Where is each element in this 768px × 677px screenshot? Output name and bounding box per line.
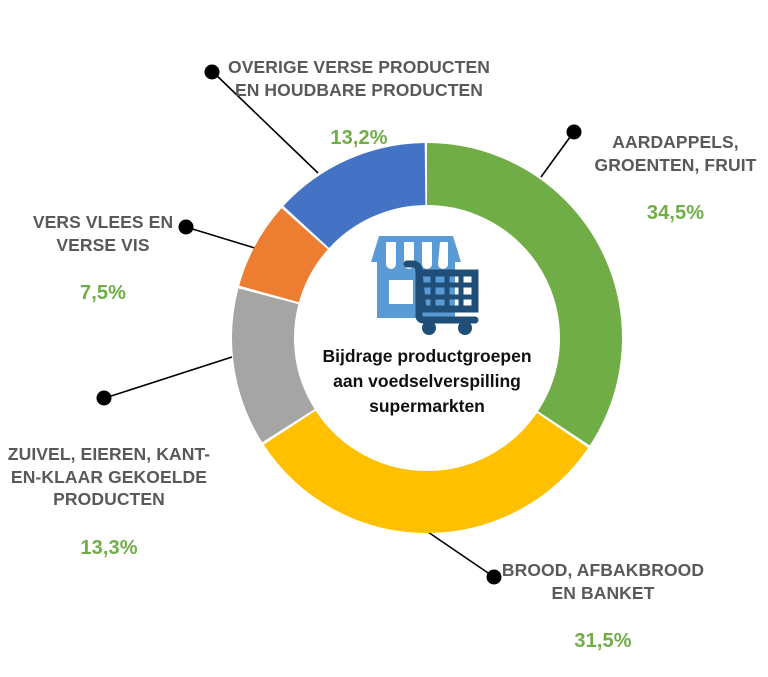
callout-overige: OVERIGE VERSE PRODUCTEN EN HOUDBARE PROD… [228,33,490,174]
leader-dot-overige [205,65,220,80]
callout-aardappels-percent: 34,5% [583,200,768,226]
callout-vlees-percent: 7,5% [24,280,182,306]
callout-aardappels: AARDAPPELS, GROENTEN, FRUIT 34,5% [583,108,768,249]
leader-line-brood [428,532,494,577]
callout-zuivel-percent: 13,3% [2,535,216,561]
callout-vlees-category: VERS VLEES EN VERSE VIS [24,211,182,257]
shopping-cart-icon [407,264,475,335]
callout-aardappels-category: AARDAPPELS, GROENTEN, FRUIT [583,131,768,177]
center-title: Bijdrage productgroepen aan voedselversp… [302,344,552,419]
callout-brood-category: BROOD, AFBAKBROOD EN BANKET [492,559,714,605]
leader-line-aardappels [541,133,573,177]
callout-vlees: VERS VLEES EN VERSE VIS 7,5% [24,188,182,329]
callout-brood-percent: 31,5% [492,628,714,654]
callout-zuivel: ZUIVEL, EIEREN, KANT- EN-KLAAR GEKOELDE … [2,420,216,584]
callout-zuivel-category: ZUIVEL, EIEREN, KANT- EN-KLAAR GEKOELDE … [2,443,216,511]
leader-dot-zuivel [97,391,112,406]
callout-overige-percent: 13,2% [228,125,490,151]
leader-line-vlees [186,227,258,249]
donut-chart: OVERIGE VERSE PRODUCTEN EN HOUDBARE PROD… [0,0,768,629]
callout-overige-category: OVERIGE VERSE PRODUCTEN EN HOUDBARE PROD… [228,56,490,102]
donut-center: Bijdrage productgroepen aan voedselversp… [299,228,555,448]
leader-dot-aardappels [567,125,582,140]
callout-brood: BROOD, AFBAKBROOD EN BANKET 31,5% [492,536,714,677]
leader-line-zuivel [105,357,232,398]
store-shopping-cart-icon [367,232,487,336]
